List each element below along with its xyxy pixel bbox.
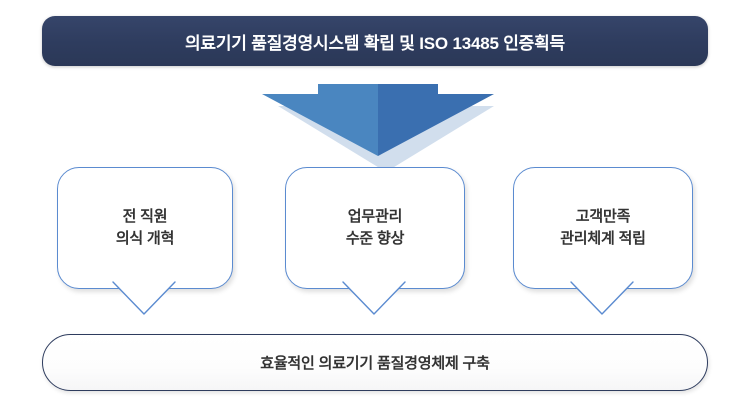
callout-box-2-line2: 수준 향상 xyxy=(346,230,404,247)
callout-box-1-label: 전 직원의식 개혁 xyxy=(116,206,174,250)
callout-box-2[interactable]: 업무관리수준 향상 xyxy=(285,167,465,289)
header-banner: 의료기기 품질경영시스템 확립 및 ISO 13485 인증획득 xyxy=(42,16,708,66)
callout-box-3-label: 고객만족관리체계 적립 xyxy=(560,206,646,250)
down-arrow-icon xyxy=(248,84,508,168)
footer-bar: 효율적인 의료기기 품질경영체제 구축 xyxy=(42,334,708,391)
callout-box-1-line1: 전 직원 xyxy=(123,208,168,225)
callout-box-3[interactable]: 고객만족관리체계 적립 xyxy=(513,167,693,289)
callout-box-3-line2: 관리체계 적립 xyxy=(560,230,646,247)
footer-bar-title: 효율적인 의료기기 품질경영체제 구축 xyxy=(260,352,490,373)
callout-box-2-line1: 업무관리 xyxy=(348,208,402,225)
callout-box-3-line1: 고객만족 xyxy=(576,208,630,225)
callout-box-1-line2: 의식 개혁 xyxy=(116,230,174,247)
diagram-canvas: 의료기기 품질경영시스템 확립 및 ISO 13485 인증획득 전 직원의식 … xyxy=(0,0,750,410)
header-banner-title: 의료기기 품질경영시스템 확립 및 ISO 13485 인증획득 xyxy=(185,29,565,54)
callout-box-2-label: 업무관리수준 향상 xyxy=(346,206,404,250)
callout-box-1[interactable]: 전 직원의식 개혁 xyxy=(57,167,233,289)
